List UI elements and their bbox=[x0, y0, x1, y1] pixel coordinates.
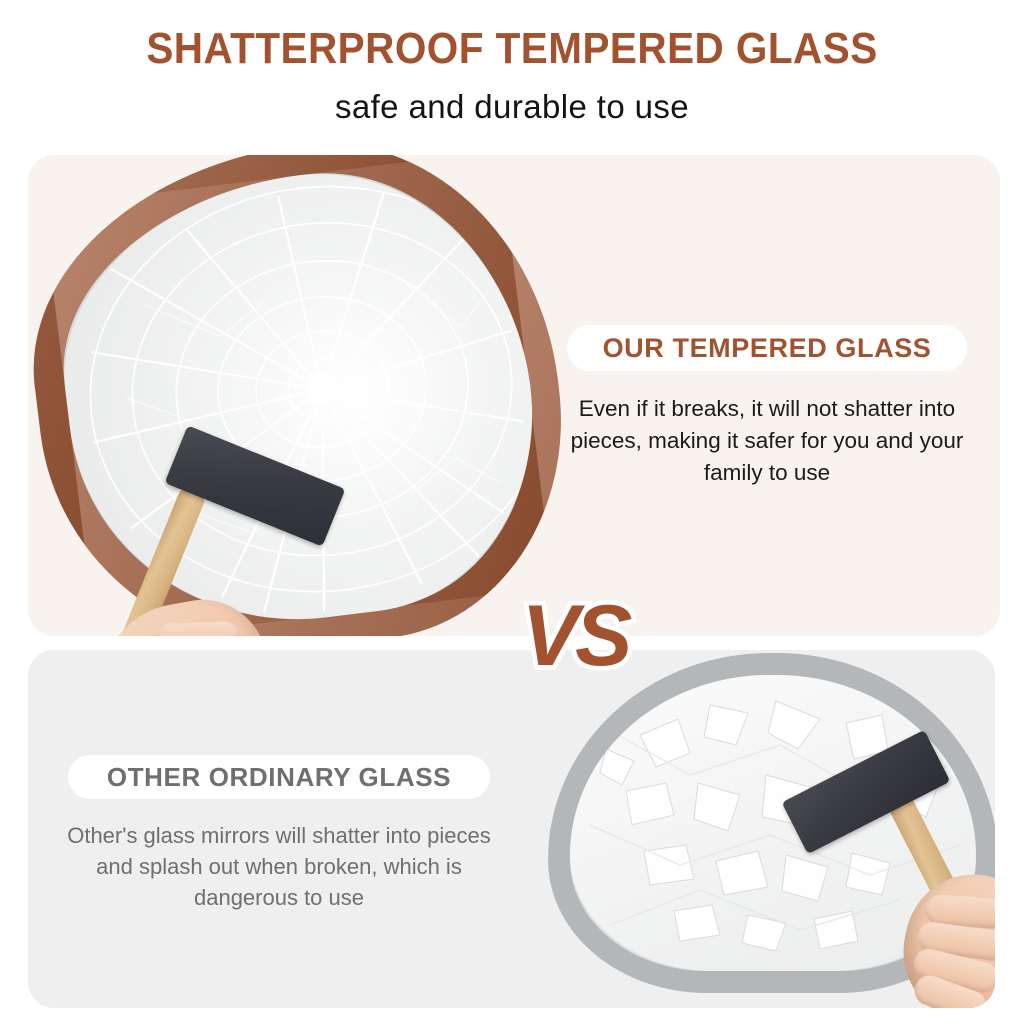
sledgehammer-bottom bbox=[778, 755, 995, 1008]
vs-badge: VS bbox=[515, 586, 635, 686]
tempered-glass-illustration bbox=[28, 155, 588, 636]
ordinary-glass-description: Other's glass mirrors will shatter into … bbox=[56, 820, 502, 914]
ordinary-glass-panel: OTHER ORDINARY GLASS Other's glass mirro… bbox=[28, 650, 995, 1008]
vs-label: VS bbox=[515, 586, 635, 686]
tempered-glass-description: Even if it breaks, it will not shatter i… bbox=[556, 393, 978, 489]
hand-gripping-hammer bbox=[891, 862, 995, 1008]
ordinary-glass-badge: OTHER ORDINARY GLASS bbox=[68, 755, 490, 799]
page-subtitle: safe and durable to use bbox=[0, 88, 1024, 126]
tempered-glass-panel: OUR TEMPERED GLASS Even if it breaks, it… bbox=[28, 155, 1000, 636]
sledgehammer-top bbox=[132, 445, 392, 636]
page-title: SHATTERPROOF TEMPERED GLASS bbox=[41, 24, 983, 74]
ordinary-glass-illustration bbox=[528, 650, 995, 1008]
tempered-glass-badge: OUR TEMPERED GLASS bbox=[567, 325, 967, 371]
header: SHATTERPROOF TEMPERED GLASS safe and dur… bbox=[0, 0, 1024, 150]
